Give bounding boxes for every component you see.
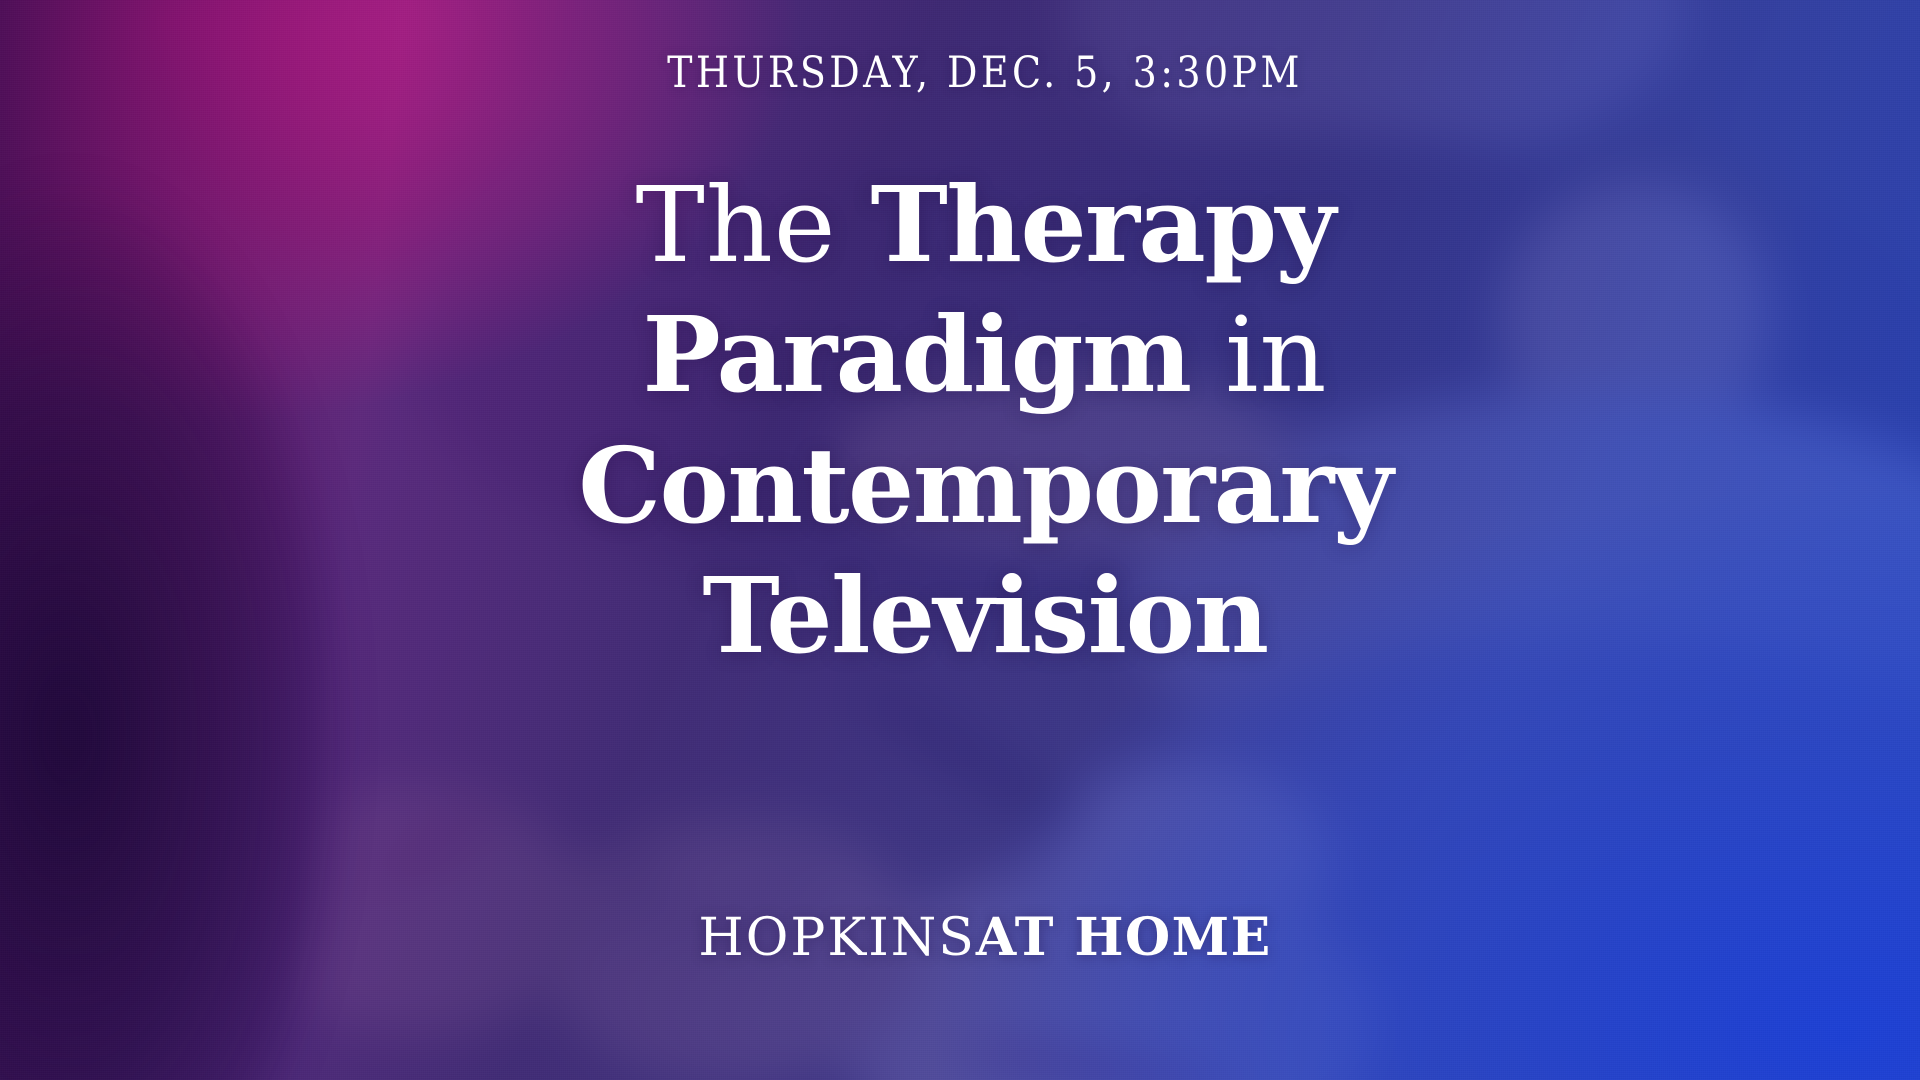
title-word-paradigm: Paradigm [643,293,1226,416]
event-title: The Therapy Paradigm in Contemporary Tel… [455,160,1515,682]
title-word-contemporary: Contemporary [578,424,1392,547]
title-word-in: in [1225,294,1327,416]
logo-word-at-home: AT HOME [976,907,1272,968]
title-word-television: Television [702,554,1267,677]
title-line-3: Contemporary [455,421,1515,551]
hopkins-at-home-logo: HOPKINSAT HOME [455,912,1515,964]
event-date-time: THURSDAY, DEC. 5, 3:30PM [455,50,1515,97]
logo-word-hopkins: HOPKINS [698,908,975,968]
title-line-4: Television [455,551,1515,681]
event-promo-graphic: THURSDAY, DEC. 5, 3:30PM The Therapy Par… [0,0,1920,1080]
title-line-2: Paradigm in [455,290,1515,420]
title-line-1: The Therapy [455,160,1515,290]
content-column: THURSDAY, DEC. 5, 3:30PM The Therapy Par… [455,0,1515,1080]
title-word-therapy: Therapy [870,163,1334,286]
title-word-the: The [636,164,871,286]
